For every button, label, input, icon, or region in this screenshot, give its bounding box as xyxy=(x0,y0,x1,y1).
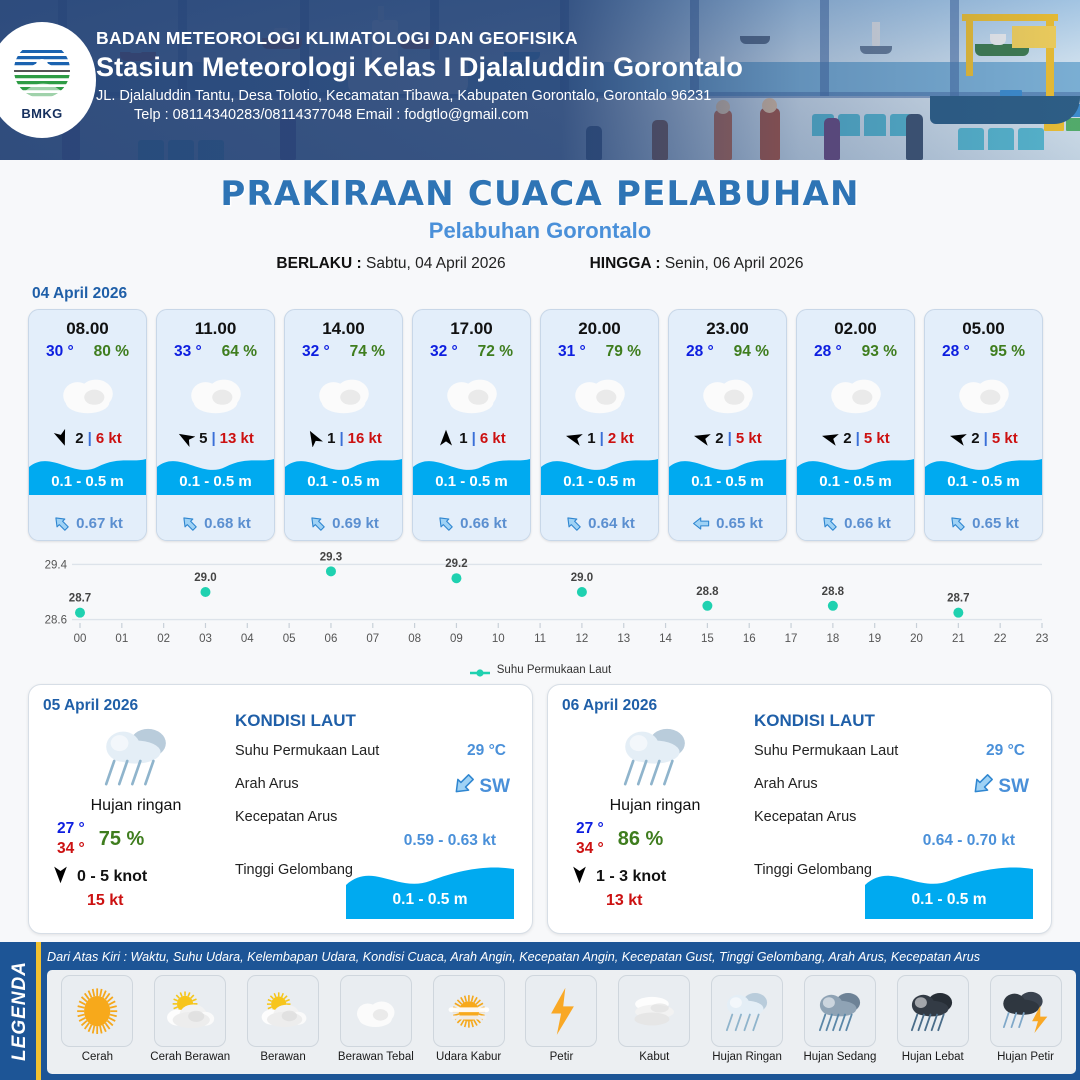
card-gust: 16 kt xyxy=(348,430,382,447)
card-wave: 0.1 - 0.5 m xyxy=(157,453,274,507)
valid-from: BERLAKU : Sabtu, 04 April 2026 xyxy=(276,255,505,273)
card-temp-hum: 28 ° 93 % xyxy=(797,339,914,361)
card-current-row: 0.65 kt xyxy=(925,507,1042,540)
sea-conditions-title: KONDISI LAUT xyxy=(235,711,518,731)
card-current-row: 0.66 kt xyxy=(413,507,530,540)
svg-text:14: 14 xyxy=(659,633,672,645)
current-direction-arrow-icon xyxy=(820,514,839,533)
card-gust: 13 kt xyxy=(220,430,254,447)
current-direction-value-group: SW xyxy=(970,771,1029,802)
card-wind-row: 1 | 6 kt xyxy=(413,423,530,453)
hourly-card: 23.00 28 ° 94 % 2 | 5 kt 0.1 - 0.5 m xyxy=(668,309,787,541)
card-gust: 5 kt xyxy=(992,430,1018,447)
sst-label: Suhu Permukaan Laut xyxy=(235,743,379,759)
daily-forecast-panel: 05 April 2026 Hujan ringan 27 ° 34 ° 75 … xyxy=(28,684,533,934)
card-gust: 2 kt xyxy=(608,430,634,447)
svg-text:28.8: 28.8 xyxy=(822,586,845,598)
current-direction-arrow-icon xyxy=(436,514,455,533)
card-time: 14.00 xyxy=(285,310,402,339)
legend-side-text: LEGENDA xyxy=(9,961,31,1061)
sst-row: Suhu Permukaan Laut 29 °C xyxy=(754,742,1037,764)
svg-text:29.2: 29.2 xyxy=(445,558,467,570)
card-temperature: 32 ° xyxy=(430,343,458,361)
svg-text:20: 20 xyxy=(910,633,923,645)
daily-wave-value: 0.1 - 0.5 m xyxy=(865,891,1033,909)
header-text-block: BADAN METEOROLOGI KLIMATOLOGI DAN GEOFIS… xyxy=(96,28,743,123)
legend-item: Cerah xyxy=(51,975,144,1063)
card-wind-speed: 2 xyxy=(971,430,979,447)
legend-caption: Dari Atas Kiri : Waktu, Suhu Udara, Kele… xyxy=(41,942,1080,964)
card-temperature: 28 ° xyxy=(814,343,842,361)
current-speed-label: Kecepatan Arus xyxy=(235,809,337,825)
wind-direction-arrow-icon xyxy=(949,429,967,447)
station-name: Stasiun Meteorologi Kelas I Djalaluddin … xyxy=(96,52,743,83)
card-temp-hum: 32 ° 72 % xyxy=(413,339,530,361)
card-wind-row: 2 | 5 kt xyxy=(669,423,786,453)
page-subtitle: Pelabuhan Gorontalo xyxy=(0,218,1080,244)
svg-text:07: 07 xyxy=(366,633,379,645)
card-temperature: 33 ° xyxy=(174,343,202,361)
svg-text:29.0: 29.0 xyxy=(571,572,593,584)
daily-forecast-panel: 06 April 2026 Hujan ringan 27 ° 34 ° 86 … xyxy=(547,684,1052,934)
wind-direction-arrow-icon xyxy=(177,429,195,447)
wind-direction-arrow-icon xyxy=(693,429,711,447)
card-weather-icon xyxy=(413,361,530,423)
legend-item-label: Kabut xyxy=(639,1051,669,1063)
legend-item-label: Cerah xyxy=(82,1051,113,1063)
validity-row: BERLAKU : Sabtu, 04 April 2026 HINGGA : … xyxy=(0,255,1080,273)
legend-items-panel: Cerah Cerah Berawan Berawan xyxy=(47,970,1076,1074)
card-humidity: 80 % xyxy=(94,343,129,361)
card-temperature: 28 ° xyxy=(942,343,970,361)
station-contact: Telp : 08114340283/08114377048 Email : f… xyxy=(96,107,743,123)
valid-until-label: HINGGA : xyxy=(590,255,661,272)
legend-item: Udara Kabur xyxy=(422,975,515,1063)
hourly-card: 05.00 28 ° 95 % 2 | 5 kt 0.1 - 0.5 m xyxy=(924,309,1043,541)
agency-name: BADAN METEOROLOGI KLIMATOLOGI DAN GEOFIS… xyxy=(96,28,743,49)
page-title: PRAKIRAAN CUACA PELABUHAN xyxy=(0,174,1080,214)
card-wave-height: 0.1 - 0.5 m xyxy=(413,473,530,490)
card-humidity: 72 % xyxy=(478,343,513,361)
card-current-row: 0.65 kt xyxy=(669,507,786,540)
svg-text:03: 03 xyxy=(199,633,212,645)
card-wind-row: 2 | 6 kt xyxy=(29,423,146,453)
wind-separator: | xyxy=(856,430,860,447)
card-current-row: 0.64 kt xyxy=(541,507,658,540)
legend-item-label: Hujan Petir xyxy=(997,1051,1054,1063)
card-humidity: 95 % xyxy=(990,343,1025,361)
svg-text:16: 16 xyxy=(743,633,756,645)
legend-icon-fog-icon xyxy=(618,975,690,1047)
chart-legend-label: Suhu Permukaan Laut xyxy=(497,664,611,676)
card-gust: 5 kt xyxy=(736,430,762,447)
current-direction-arrow-icon xyxy=(451,771,477,802)
card-weather-icon xyxy=(541,361,658,423)
current-direction-arrow-icon xyxy=(948,514,967,533)
legend-item-label: Petir xyxy=(550,1051,574,1063)
daily-wind-speed: 1 - 3 knot xyxy=(596,868,666,886)
current-direction-arrow-icon xyxy=(970,771,996,802)
legend-section: LEGENDA Dari Atas Kiri : Waktu, Suhu Uda… xyxy=(0,942,1080,1080)
hourly-day-label: 04 April 2026 xyxy=(32,285,1080,303)
daily-temp-hum: 27 ° 34 ° 75 % xyxy=(43,820,229,858)
legend-item-label: Berawan Tebal xyxy=(338,1051,414,1063)
card-current-row: 0.66 kt xyxy=(797,507,914,540)
legend-item: Hujan Ringan xyxy=(701,975,794,1063)
card-humidity: 93 % xyxy=(862,343,897,361)
current-direction-row: Arah Arus SW xyxy=(235,775,518,797)
title-block: PRAKIRAAN CUACA PELABUHAN Pelabuhan Goro… xyxy=(0,160,1080,273)
svg-text:10: 10 xyxy=(492,633,505,645)
card-current-row: 0.69 kt xyxy=(285,507,402,540)
wind-separator: | xyxy=(339,430,343,447)
card-weather-icon xyxy=(797,361,914,423)
card-gust: 5 kt xyxy=(864,430,890,447)
svg-text:28.7: 28.7 xyxy=(947,593,969,605)
svg-text:00: 00 xyxy=(74,633,87,645)
svg-text:19: 19 xyxy=(868,633,881,645)
wind-direction-arrow-icon xyxy=(437,429,455,447)
card-wave: 0.1 - 0.5 m xyxy=(29,453,146,507)
card-current-speed: 0.66 kt xyxy=(460,515,507,532)
current-direction-arrow-icon xyxy=(180,514,199,533)
daily-wind-row: 0 - 5 knot xyxy=(43,865,229,889)
legend-icon-haze-icon xyxy=(433,975,505,1047)
daily-wind-speed: 0 - 5 knot xyxy=(77,868,147,886)
daily-gust: 15 kt xyxy=(43,892,229,910)
valid-until: HINGGA : Senin, 06 April 2026 xyxy=(590,255,804,273)
card-current-row: 0.68 kt xyxy=(157,507,274,540)
card-wave: 0.1 - 0.5 m xyxy=(669,453,786,507)
legend-icon-thunderstorm-icon xyxy=(990,975,1062,1047)
current-direction-arrow-icon xyxy=(308,514,327,533)
page-header: BMKG BADAN METEOROLOGI KLIMATOLOGI DAN G… xyxy=(0,0,1080,160)
sst-chart: 28.629.400010203040506070809101112131415… xyxy=(24,551,1056,663)
card-temp-hum: 31 ° 79 % xyxy=(541,339,658,361)
wind-separator: | xyxy=(984,430,988,447)
svg-text:02: 02 xyxy=(157,633,170,645)
current-direction-arrow-icon xyxy=(564,514,583,533)
valid-from-label: BERLAKU : xyxy=(276,255,361,272)
wind-separator: | xyxy=(211,430,215,447)
svg-text:22: 22 xyxy=(994,633,1007,645)
daily-weather-icon xyxy=(562,717,748,795)
card-wave-height: 0.1 - 0.5 m xyxy=(925,473,1042,490)
sst-row: Suhu Permukaan Laut 29 °C xyxy=(235,742,518,764)
card-temperature: 28 ° xyxy=(686,343,714,361)
legend-item-label: Cerah Berawan xyxy=(150,1051,230,1063)
card-wind-speed: 2 xyxy=(843,430,851,447)
hourly-card: 02.00 28 ° 93 % 2 | 5 kt 0.1 - 0.5 m xyxy=(796,309,915,541)
card-wave: 0.1 - 0.5 m xyxy=(285,453,402,507)
card-temperature: 30 ° xyxy=(46,343,74,361)
legend-item: Berawan xyxy=(237,975,330,1063)
daily-sea-conditions: KONDISI LAUT Suhu Permukaan Laut 29 °C A… xyxy=(229,697,518,921)
sst-value: 29 °C xyxy=(986,742,1025,760)
card-time: 08.00 xyxy=(29,310,146,339)
card-time: 05.00 xyxy=(925,310,1042,339)
daily-wind-row: 1 - 3 knot xyxy=(562,865,748,889)
legend-icon-moderate-rain-icon xyxy=(804,975,876,1047)
card-weather-icon xyxy=(29,361,146,423)
card-time: 02.00 xyxy=(797,310,914,339)
card-weather-icon xyxy=(669,361,786,423)
wind-direction-arrow-icon xyxy=(305,429,323,447)
card-current-speed: 0.66 kt xyxy=(844,515,891,532)
hourly-card: 08.00 30 ° 80 % 2 | 6 kt 0.1 - 0.5 m xyxy=(28,309,147,541)
svg-text:29.3: 29.3 xyxy=(320,551,342,563)
card-humidity: 79 % xyxy=(606,343,641,361)
daily-humidity: 86 % xyxy=(618,828,664,851)
daily-wind-direction-arrow-icon xyxy=(51,865,70,889)
card-wind-row: 2 | 5 kt xyxy=(797,423,914,453)
sst-label: Suhu Permukaan Laut xyxy=(754,743,898,759)
card-weather-icon xyxy=(925,361,1042,423)
card-wind-speed: 2 xyxy=(75,430,83,447)
legend-item-label: Hujan Sedang xyxy=(803,1051,876,1063)
legend-body: Dari Atas Kiri : Waktu, Suhu Udara, Kele… xyxy=(41,942,1080,1080)
card-temp-hum: 28 ° 95 % xyxy=(925,339,1042,361)
card-wind-speed: 2 xyxy=(715,430,723,447)
daily-temp-col: 27 ° 34 ° xyxy=(57,820,85,858)
legend-item-label: Hujan Lebat xyxy=(902,1051,964,1063)
daily-temp-min: 27 ° xyxy=(576,820,604,838)
card-wind-speed: 1 xyxy=(587,430,595,447)
card-wave: 0.1 - 0.5 m xyxy=(925,453,1042,507)
wind-direction-arrow-icon xyxy=(53,429,71,447)
card-wind-row: 1 | 16 kt xyxy=(285,423,402,453)
daily-weather-icon xyxy=(43,717,229,795)
legend-icon-heavy-rain-icon xyxy=(897,975,969,1047)
svg-text:18: 18 xyxy=(826,633,839,645)
svg-text:29.0: 29.0 xyxy=(194,572,216,584)
current-direction-arrow-icon xyxy=(52,514,71,533)
card-wind-row: 1 | 2 kt xyxy=(541,423,658,453)
daily-wind-direction-arrow-icon xyxy=(570,865,589,889)
card-gust: 6 kt xyxy=(480,430,506,447)
current-direction-row: Arah Arus SW xyxy=(754,775,1037,797)
wave-height-label: Tinggi Gelombang xyxy=(754,862,872,878)
current-direction-value: SW xyxy=(479,776,510,798)
card-wave-height: 0.1 - 0.5 m xyxy=(157,473,274,490)
current-speed-row: Kecepatan Arus xyxy=(754,808,1037,830)
svg-text:28.7: 28.7 xyxy=(69,593,91,605)
wind-separator: | xyxy=(88,430,92,447)
daily-wave-graphic: 0.1 - 0.5 m xyxy=(346,863,514,919)
card-wind-speed: 1 xyxy=(459,430,467,447)
daily-condition: Hujan ringan xyxy=(562,797,748,815)
card-weather-icon xyxy=(157,361,274,423)
legend-item: Hujan Sedang xyxy=(794,975,887,1063)
current-speed-row: Kecepatan Arus xyxy=(235,808,518,830)
card-wave: 0.1 - 0.5 m xyxy=(541,453,658,507)
legend-item: Petir xyxy=(515,975,608,1063)
svg-text:08: 08 xyxy=(408,633,421,645)
daily-temp-max: 34 ° xyxy=(576,840,604,858)
svg-text:06: 06 xyxy=(325,633,338,645)
card-wave-height: 0.1 - 0.5 m xyxy=(285,473,402,490)
card-wind-speed: 1 xyxy=(327,430,335,447)
daily-left: 06 April 2026 Hujan ringan 27 ° 34 ° 86 … xyxy=(562,697,748,921)
card-humidity: 64 % xyxy=(222,343,257,361)
card-humidity: 94 % xyxy=(734,343,769,361)
daily-temp-max: 34 ° xyxy=(57,840,85,858)
bmkg-logo-text: BMKG xyxy=(21,106,62,121)
daily-left: 05 April 2026 Hujan ringan 27 ° 34 ° 75 … xyxy=(43,697,229,921)
legend-item-label: Berawan xyxy=(260,1051,305,1063)
legend-item: Hujan Lebat xyxy=(886,975,979,1063)
wind-direction-arrow-icon xyxy=(821,429,839,447)
card-wind-speed: 5 xyxy=(199,430,207,447)
card-temp-hum: 32 ° 74 % xyxy=(285,339,402,361)
card-current-speed: 0.65 kt xyxy=(716,515,763,532)
card-weather-icon xyxy=(285,361,402,423)
card-humidity: 74 % xyxy=(350,343,385,361)
daily-condition: Hujan ringan xyxy=(43,797,229,815)
card-temp-hum: 28 ° 94 % xyxy=(669,339,786,361)
svg-text:13: 13 xyxy=(617,633,630,645)
svg-text:11: 11 xyxy=(534,633,546,645)
card-time: 20.00 xyxy=(541,310,658,339)
current-direction-label: Arah Arus xyxy=(235,776,299,792)
card-current-speed: 0.67 kt xyxy=(76,515,123,532)
valid-from-value: Sabtu, 04 April 2026 xyxy=(366,255,506,272)
svg-text:09: 09 xyxy=(450,633,463,645)
svg-text:17: 17 xyxy=(785,633,798,645)
legend-icon-sun-icon xyxy=(61,975,133,1047)
card-wave: 0.1 - 0.5 m xyxy=(413,453,530,507)
daily-wave-graphic: 0.1 - 0.5 m xyxy=(865,863,1033,919)
svg-text:29.4: 29.4 xyxy=(45,559,68,571)
wind-separator: | xyxy=(728,430,732,447)
current-direction-arrow-icon xyxy=(692,514,711,533)
card-current-speed: 0.64 kt xyxy=(588,515,635,532)
legend-icon-cloud-sun-small-icon xyxy=(247,975,319,1047)
wind-direction-arrow-icon xyxy=(565,429,583,447)
current-direction-value: SW xyxy=(998,776,1029,798)
bmkg-logo-icon xyxy=(10,40,74,104)
legend-item-label: Udara Kabur xyxy=(436,1051,501,1063)
svg-text:28.8: 28.8 xyxy=(696,586,719,598)
card-temperature: 31 ° xyxy=(558,343,586,361)
current-speed-label: Kecepatan Arus xyxy=(754,809,856,825)
current-speed-value: 0.59 - 0.63 kt xyxy=(235,832,518,850)
card-temp-hum: 33 ° 64 % xyxy=(157,339,274,361)
hourly-card: 17.00 32 ° 72 % 1 | 6 kt 0.1 - 0.5 m xyxy=(412,309,531,541)
legend-item: Kabut xyxy=(608,975,701,1063)
daily-wave-value: 0.1 - 0.5 m xyxy=(346,891,514,909)
hourly-card: 20.00 31 ° 79 % 1 | 2 kt 0.1 - 0.5 m xyxy=(540,309,659,541)
wind-separator: | xyxy=(472,430,476,447)
card-current-row: 0.67 kt xyxy=(29,507,146,540)
card-wind-row: 2 | 5 kt xyxy=(925,423,1042,453)
legend-side-label: LEGENDA xyxy=(0,942,40,1080)
valid-until-value: Senin, 06 April 2026 xyxy=(665,255,804,272)
sea-conditions-title: KONDISI LAUT xyxy=(754,711,1037,731)
sst-value: 29 °C xyxy=(467,742,506,760)
card-current-speed: 0.69 kt xyxy=(332,515,379,532)
card-wave-height: 0.1 - 0.5 m xyxy=(541,473,658,490)
current-direction-label: Arah Arus xyxy=(754,776,818,792)
hourly-card: 11.00 33 ° 64 % 5 | 13 kt 0.1 - 0.5 m xyxy=(156,309,275,541)
legend-item-label: Hujan Ringan xyxy=(712,1051,782,1063)
card-gust: 6 kt xyxy=(96,430,122,447)
hourly-forecast-row: 08.00 30 ° 80 % 2 | 6 kt 0.1 - 0.5 m xyxy=(0,309,1080,541)
legend-item: Cerah Berawan xyxy=(144,975,237,1063)
card-wave-height: 0.1 - 0.5 m xyxy=(29,473,146,490)
svg-text:21: 21 xyxy=(952,633,965,645)
daily-temp-hum: 27 ° 34 ° 86 % xyxy=(562,820,748,858)
daily-temp-col: 27 ° 34 ° xyxy=(576,820,604,858)
card-temperature: 32 ° xyxy=(302,343,330,361)
current-direction-value-group: SW xyxy=(451,771,510,802)
legend-item: Berawan Tebal xyxy=(329,975,422,1063)
card-temp-hum: 30 ° 80 % xyxy=(29,339,146,361)
svg-text:01: 01 xyxy=(115,633,128,645)
svg-text:05: 05 xyxy=(283,633,296,645)
station-address: JL. Djalaluddin Tantu, Desa Tolotio, Kec… xyxy=(96,88,743,104)
card-current-speed: 0.65 kt xyxy=(972,515,1019,532)
card-wave: 0.1 - 0.5 m xyxy=(797,453,914,507)
card-time: 23.00 xyxy=(669,310,786,339)
legend-icon-sun-cloud-icon xyxy=(154,975,226,1047)
svg-text:28.6: 28.6 xyxy=(45,615,67,627)
card-wave-height: 0.1 - 0.5 m xyxy=(797,473,914,490)
daily-date: 06 April 2026 xyxy=(562,697,748,715)
card-time: 11.00 xyxy=(157,310,274,339)
card-wind-row: 5 | 13 kt xyxy=(157,423,274,453)
card-current-speed: 0.68 kt xyxy=(204,515,251,532)
wave-height-label: Tinggi Gelombang xyxy=(235,862,353,878)
daily-temp-min: 27 ° xyxy=(57,820,85,838)
daily-gust: 13 kt xyxy=(562,892,748,910)
daily-humidity: 75 % xyxy=(99,828,145,851)
svg-text:04: 04 xyxy=(241,633,254,645)
legend-icon-lightning-icon xyxy=(525,975,597,1047)
legend-icon-light-rain-icon xyxy=(711,975,783,1047)
daily-sea-conditions: KONDISI LAUT Suhu Permukaan Laut 29 °C A… xyxy=(748,697,1037,921)
chart-legend-marker-icon xyxy=(469,665,491,675)
current-speed-value: 0.64 - 0.70 kt xyxy=(754,832,1037,850)
legend-item: Hujan Petir xyxy=(979,975,1072,1063)
svg-text:12: 12 xyxy=(576,633,589,645)
card-time: 17.00 xyxy=(413,310,530,339)
daily-date: 05 April 2026 xyxy=(43,697,229,715)
daily-forecast-row: 05 April 2026 Hujan ringan 27 ° 34 ° 75 … xyxy=(0,676,1080,934)
legend-icon-cloud-icon xyxy=(340,975,412,1047)
svg-text:23: 23 xyxy=(1036,633,1049,645)
svg-text:15: 15 xyxy=(701,633,714,645)
wind-separator: | xyxy=(600,430,604,447)
hourly-card: 14.00 32 ° 74 % 1 | 16 kt 0.1 - 0.5 m xyxy=(284,309,403,541)
card-wave-height: 0.1 - 0.5 m xyxy=(669,473,786,490)
chart-legend: Suhu Permukaan Laut xyxy=(0,664,1080,676)
